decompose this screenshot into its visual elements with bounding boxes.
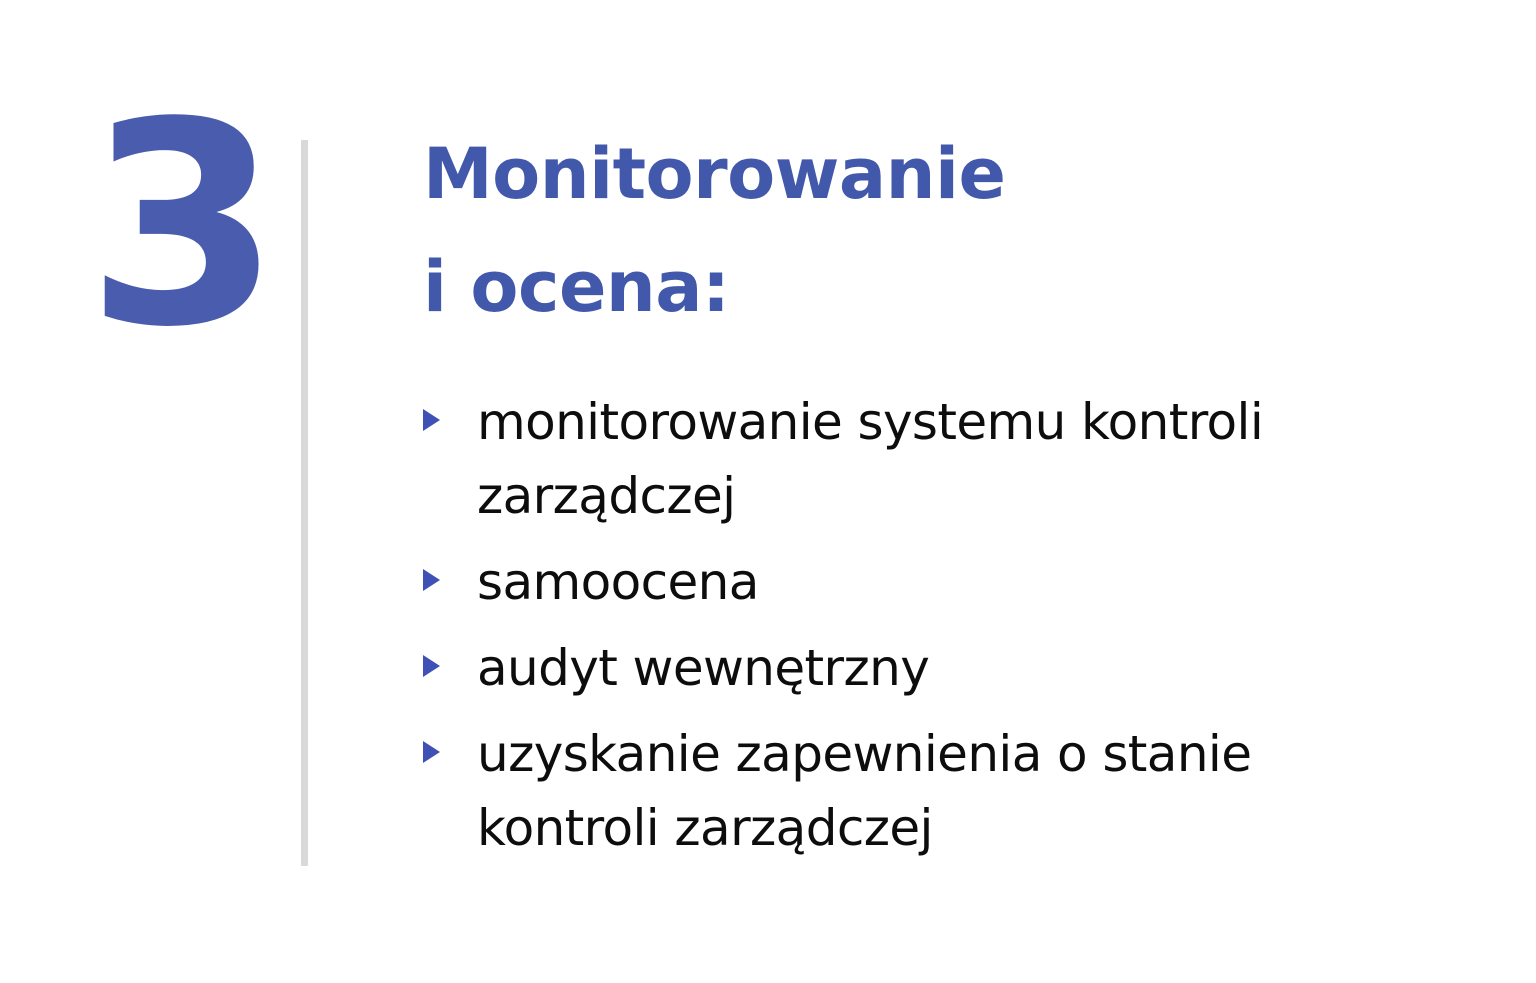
list-item-label: audyt wewnętrzny	[477, 631, 1423, 705]
list-item-label: uzyskanie zapewnienia o stanie kontroli …	[477, 717, 1423, 865]
list-item: audyt wewnętrzny	[423, 631, 1423, 705]
list-item: monitorowanie systemu kontroli zarządcze…	[423, 385, 1423, 533]
slide-title: Monitorowanie i ocena:	[423, 118, 1423, 345]
list-item: uzyskanie zapewnienia o stanie kontroli …	[423, 717, 1423, 865]
slide: 3 Monitorowanie i ocena: monitorowanie s…	[0, 0, 1536, 983]
step-number: 3	[86, 96, 256, 356]
triangle-right-icon	[423, 569, 440, 591]
triangle-right-icon	[423, 655, 440, 677]
triangle-right-icon	[423, 741, 440, 763]
triangle-right-icon	[423, 409, 440, 431]
bullet-list: monitorowanie systemu kontroli zarządcze…	[423, 385, 1423, 865]
list-item-label: monitorowanie systemu kontroli zarządcze…	[477, 385, 1423, 533]
slide-content: Monitorowanie i ocena: monitorowanie sys…	[423, 118, 1423, 877]
list-item-label: samoocena	[477, 545, 1423, 619]
vertical-divider	[301, 140, 308, 866]
list-item: samoocena	[423, 545, 1423, 619]
